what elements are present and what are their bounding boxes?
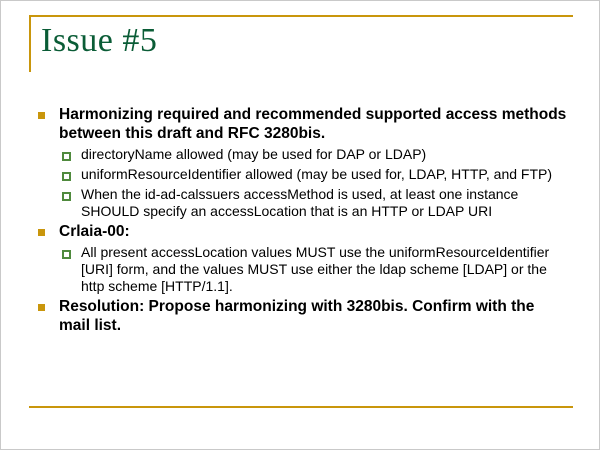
hollow-square-bullet-icon: [62, 172, 71, 181]
slide-body: Harmonizing required and recommended sup…: [33, 105, 567, 335]
slide-title-block: Issue #5: [29, 15, 573, 73]
list-item-label: Crlaia-00:: [59, 222, 567, 241]
title-left-rule: [29, 15, 31, 72]
list-item-label: All present accessLocation values MUST u…: [81, 244, 567, 295]
list-item: Harmonizing required and recommended sup…: [33, 105, 567, 143]
hollow-square-bullet-icon: [62, 192, 71, 201]
filled-square-bullet-icon: [38, 304, 45, 311]
filled-square-bullet-icon: [38, 229, 45, 236]
list-item-label: directoryName allowed (may be used for D…: [81, 146, 567, 163]
page-title: Issue #5: [41, 21, 157, 61]
list-item-label: Harmonizing required and recommended sup…: [59, 105, 567, 143]
filled-square-bullet-icon: [38, 112, 45, 119]
list-item-label: uniformResourceIdentifier allowed (may b…: [81, 166, 567, 183]
list-item: Crlaia-00:: [33, 222, 567, 241]
presentation-slide: Issue #5 Harmonizing required and recomm…: [0, 0, 600, 450]
list-item: directoryName allowed (may be used for D…: [33, 146, 567, 163]
list-item: Resolution: Propose harmonizing with 328…: [33, 297, 567, 335]
list-item-label: When the id-ad-calssuers accessMethod is…: [81, 186, 567, 220]
list-item: When the id-ad-calssuers accessMethod is…: [33, 186, 567, 220]
title-top-rule: [29, 15, 573, 17]
hollow-square-bullet-icon: [62, 152, 71, 161]
hollow-square-bullet-icon: [62, 250, 71, 259]
list-item-label: Resolution: Propose harmonizing with 328…: [59, 297, 567, 335]
footer-rule: [29, 406, 573, 408]
list-item: uniformResourceIdentifier allowed (may b…: [33, 166, 567, 183]
list-item: All present accessLocation values MUST u…: [33, 244, 567, 295]
